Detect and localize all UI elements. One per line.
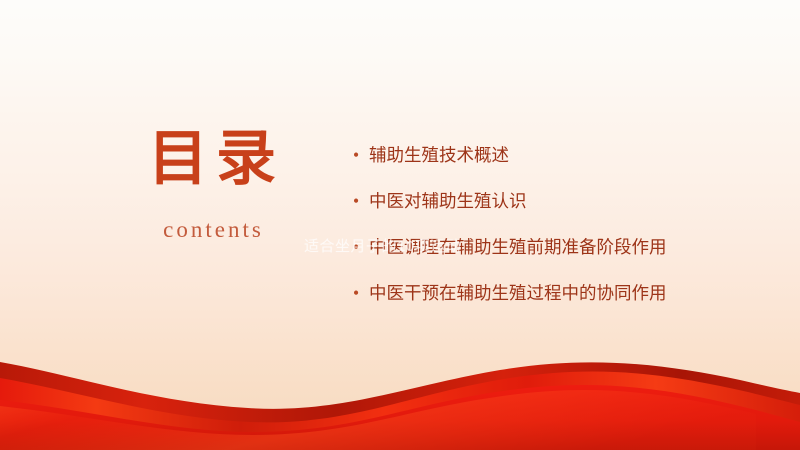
list-item-label: 辅助生殖技术概述 (369, 145, 509, 165)
red-ribbon-decoration (0, 340, 800, 450)
list-item-label: 中医对辅助生殖认识 (369, 191, 527, 211)
page-subtitle: contents (92, 217, 332, 243)
toc-title-block: 目录 contents (92, 128, 332, 243)
toc-list: • 辅助生殖技术概述 • 中医对辅助生殖认识 • 中医调理在辅助生殖前期准备阶段… (352, 140, 724, 309)
slide-canvas: 目录 contents • 辅助生殖技术概述 • 中医对辅助生殖认识 • 中医调… (0, 0, 800, 450)
list-item[interactable]: • 中医调理在辅助生殖前期准备阶段作用 (352, 232, 724, 264)
bullet-icon: • (353, 278, 359, 310)
list-item[interactable]: • 中医干预在辅助生殖过程中的协同作用 (352, 278, 724, 310)
list-item-label: 中医调理在辅助生殖前期准备阶段作用 (369, 237, 667, 257)
bullet-icon: • (353, 232, 359, 264)
list-item[interactable]: • 中医对辅助生殖认识 (352, 186, 724, 218)
list-item-label: 中医干预在辅助生殖过程中的协同作用 (369, 283, 667, 303)
list-item[interactable]: • 辅助生殖技术概述 (352, 140, 724, 172)
bullet-icon: • (353, 186, 359, 218)
page-title: 目录 (92, 128, 332, 191)
bullet-icon: • (353, 140, 359, 172)
